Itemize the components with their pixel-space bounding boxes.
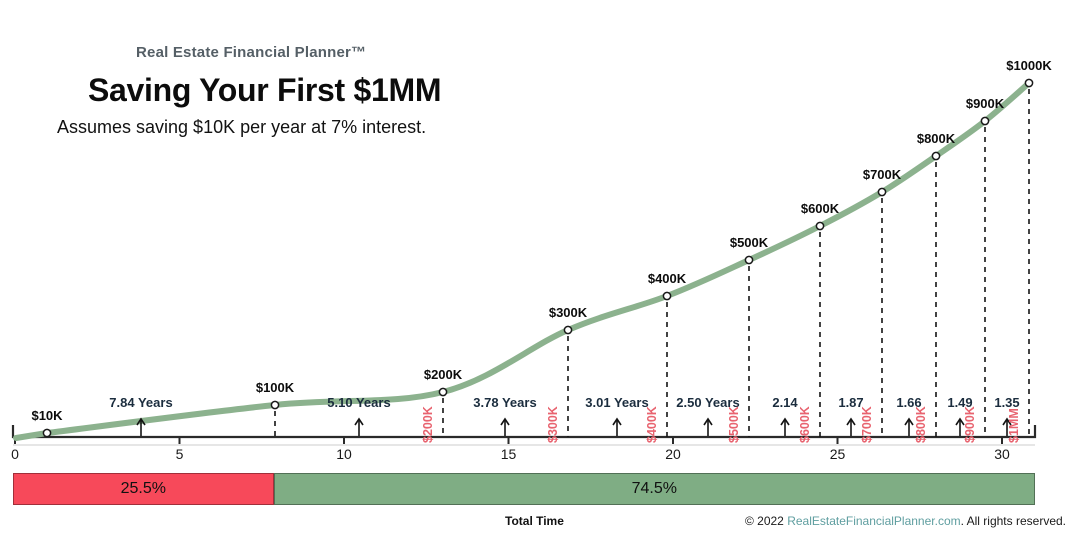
interval-label-8: 1.66: [896, 395, 921, 410]
interval-label-4: 3.01 Years: [585, 395, 648, 410]
x-tick-label-10: 10: [336, 446, 352, 462]
point-label-800k: $800K: [917, 131, 955, 146]
x-tick-label-30: 30: [994, 446, 1010, 462]
x-tick-label-20: 20: [665, 446, 681, 462]
point-label-300k: $300K: [549, 305, 587, 320]
milestone-label-700k: $700K: [860, 406, 874, 443]
bar-right-label: 74.5%: [632, 480, 677, 498]
copyright-notice: © 2022 RealEstateFinancialPlanner.com. A…: [745, 514, 1066, 528]
time-share-bar-before-first-100k: 25.5%: [13, 473, 274, 505]
interval-label-10: 1.35: [994, 395, 1019, 410]
point-label-10k: $10K: [31, 408, 62, 423]
milestone-label-600k: $600K: [798, 406, 812, 443]
point-label-100k: $100K: [256, 380, 294, 395]
milestone-label-200k: $200K: [421, 406, 435, 443]
milestone-label-800k: $800K: [914, 406, 928, 443]
x-tick-label-15: 15: [501, 446, 517, 462]
copyright-link[interactable]: RealEstateFinancialPlanner.com: [787, 514, 960, 528]
interval-label-7: 1.87: [838, 395, 863, 410]
interval-label-5: 2.50 Years: [676, 395, 739, 410]
point-label-600k: $600K: [801, 201, 839, 216]
interval-label-2: 5.10 Years: [327, 395, 390, 410]
total-time-label: Total Time: [505, 514, 564, 528]
x-tick-label-5: 5: [176, 446, 184, 462]
interval-label-9: 1.49: [947, 395, 972, 410]
milestone-label-900k: $900K: [963, 406, 977, 443]
milestone-label-300k: $300K: [546, 406, 560, 443]
point-label-700k: $700K: [863, 167, 901, 182]
milestone-label-500k: $500K: [727, 406, 741, 443]
milestone-label-1mm: $1MM: [1007, 408, 1021, 443]
milestone-label-400k: $400K: [645, 406, 659, 443]
interval-label-6: 2.14: [772, 395, 797, 410]
interval-label-3: 3.78 Years: [473, 395, 536, 410]
x-tick-label-0: 0: [11, 446, 19, 462]
point-label-900k: $900K: [966, 96, 1004, 111]
point-label-1000k: $1000K: [1006, 58, 1052, 73]
time-share-bar-after-first-100k: 74.5%: [274, 473, 1035, 505]
x-tick-label-25: 25: [830, 446, 846, 462]
bar-left-label: 25.5%: [121, 480, 166, 498]
copyright-suffix: . All rights reserved.: [961, 514, 1066, 528]
point-label-400k: $400K: [648, 271, 686, 286]
point-label-200k: $200K: [424, 367, 462, 382]
copyright-prefix: © 2022: [745, 514, 787, 528]
interval-label-1: 7.84 Years: [109, 395, 172, 410]
point-label-500k: $500K: [730, 235, 768, 250]
infographic-canvas: Real Estate Financial Planner™ Saving Yo…: [0, 0, 1080, 538]
